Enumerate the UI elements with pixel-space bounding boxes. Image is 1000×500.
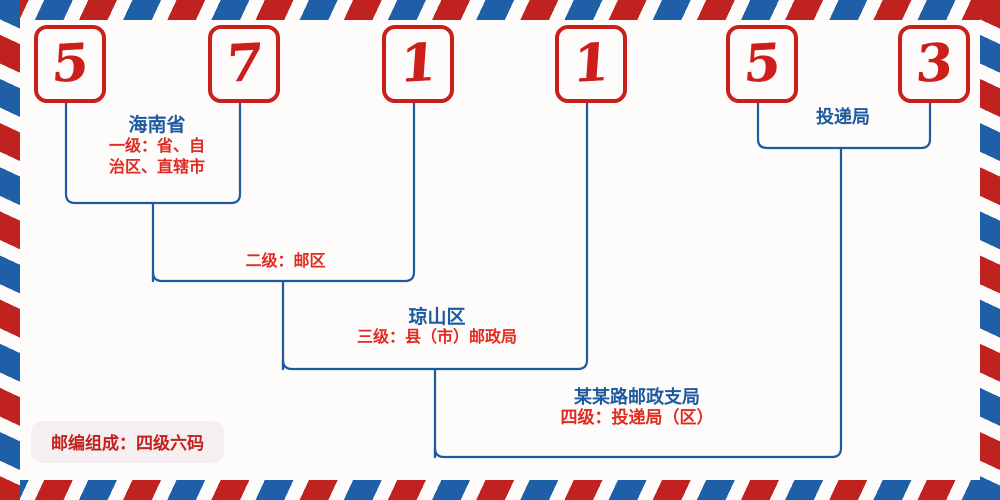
label-level-3-title: 琼山区 — [292, 306, 582, 328]
label-level-2-subtitle: 二级：邮区 — [168, 252, 403, 271]
postcode-composition-text: 邮编组成：四级六码 — [51, 434, 204, 454]
digit-glyph-2: 7 — [224, 37, 264, 91]
digit-box-6[interactable]: 3 — [898, 25, 970, 103]
label-level-4-title: 某某路邮政支局 — [442, 387, 832, 408]
label-level-4-subtitle: 四级：投递局（区） — [442, 408, 832, 428]
airmail-border-right — [980, 0, 1000, 500]
digit-box-4[interactable]: 1 — [555, 25, 627, 103]
airmail-border-bottom — [0, 480, 1000, 500]
label-level-3-subtitle: 三级：县（市）邮政局 — [292, 328, 582, 347]
airmail-border-left — [0, 0, 20, 500]
label-level-3: 琼山区 三级：县（市）邮政局 — [292, 306, 582, 347]
label-level-2: 二级：邮区 — [168, 252, 403, 271]
label-delivery-office-title: 投递局 — [754, 107, 932, 128]
digit-glyph-1: 5 — [50, 37, 90, 91]
digit-glyph-3: 1 — [398, 37, 438, 91]
digit-glyph-5: 5 — [742, 37, 782, 91]
digit-glyph-4: 1 — [571, 37, 611, 91]
digit-box-2[interactable]: 7 — [208, 25, 280, 103]
postcode-composition-badge: 邮编组成：四级六码 — [31, 421, 224, 463]
digit-glyph-6: 3 — [914, 37, 954, 91]
label-level-1-subtitle-line2: 治区、直辖市 — [72, 157, 242, 178]
postal-code-diagram: 5 7 1 1 5 3 海南省 一级：省、自 治区、直辖市 二级：邮区 琼山区 … — [0, 0, 1000, 500]
label-level-1-title: 海南省 — [72, 114, 242, 136]
digit-box-5[interactable]: 5 — [726, 25, 798, 103]
label-level-1: 海南省 一级：省、自 治区、直辖市 — [72, 114, 242, 178]
airmail-border-top — [0, 0, 1000, 20]
label-level-1-subtitle-line1: 一级：省、自 — [72, 136, 242, 157]
label-level-4: 某某路邮政支局 四级：投递局（区） — [442, 387, 832, 428]
digit-box-3[interactable]: 1 — [382, 25, 454, 103]
label-delivery-office: 投递局 — [754, 107, 932, 128]
digit-box-1[interactable]: 5 — [34, 25, 106, 103]
